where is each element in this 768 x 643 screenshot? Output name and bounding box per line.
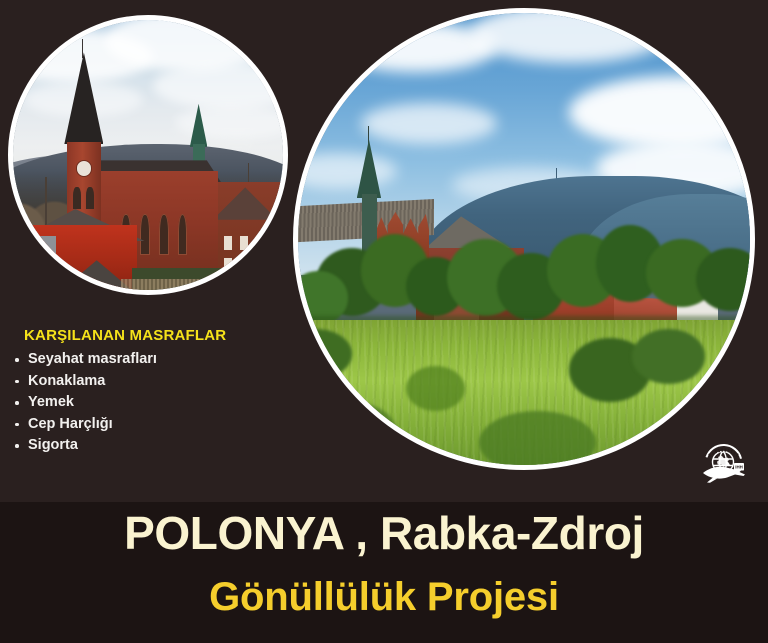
gothic-window: [159, 214, 169, 255]
list-item: Seyahat masrafları: [0, 349, 282, 371]
church-scene: [13, 20, 283, 290]
list-item-label: Yemek: [28, 394, 74, 410]
tower-window: [86, 187, 94, 209]
cloud: [361, 103, 497, 144]
tower-window: [73, 187, 81, 209]
list-item: Yemek: [0, 392, 282, 414]
window: [240, 236, 248, 250]
globe-airplane-logo: IHH: [697, 440, 751, 490]
bullet-icon: [15, 358, 19, 362]
gothic-window: [178, 214, 188, 255]
list-item-label: Sigorta: [28, 437, 78, 453]
covered-costs-list: Seyahat masrafları Konaklama Yemek Cep H…: [0, 349, 282, 457]
list-item-label: Cep Harçlığı: [28, 416, 113, 432]
rabka-zdroj-church-photo: [8, 15, 288, 295]
poster-subtitle: Gönüllülük Projesi: [0, 574, 768, 620]
bush: [307, 402, 397, 465]
bullet-icon: [15, 380, 19, 384]
bush: [479, 411, 597, 470]
bullet-icon: [15, 401, 19, 405]
cloud: [470, 8, 669, 63]
poster-title: POLONYA , Rabka-Zdroj: [0, 507, 768, 559]
valley-scene: [298, 13, 750, 465]
fence: [121, 279, 245, 290]
list-item-label: Seyahat masrafları: [28, 351, 157, 367]
list-item: Konaklama: [0, 371, 282, 393]
cloud: [175, 106, 288, 138]
covered-costs-heading: KARŞILANAN MASRAFLAR: [24, 327, 282, 344]
poster: IHH KARŞILANAN MASRAFLAR: [0, 0, 768, 643]
bullet-icon: [15, 444, 19, 448]
bullet-icon: [15, 423, 19, 427]
list-item-label: Konaklama: [28, 373, 105, 389]
list-item: Sigorta: [0, 435, 282, 457]
svg-text:IHH: IHH: [735, 465, 743, 470]
bush: [632, 329, 704, 383]
spire-tip: [82, 39, 83, 58]
window: [256, 236, 264, 250]
gothic-window: [140, 214, 150, 255]
window: [224, 236, 232, 250]
covered-costs-block: KARŞILANAN MASRAFLAR Seyahat masrafları …: [0, 327, 282, 457]
window: [240, 258, 248, 272]
rabka-zdroj-valley-photo: [293, 8, 755, 470]
grey-house: [13, 236, 56, 290]
list-item: Cep Harçlığı: [0, 414, 282, 436]
bush: [406, 366, 465, 411]
